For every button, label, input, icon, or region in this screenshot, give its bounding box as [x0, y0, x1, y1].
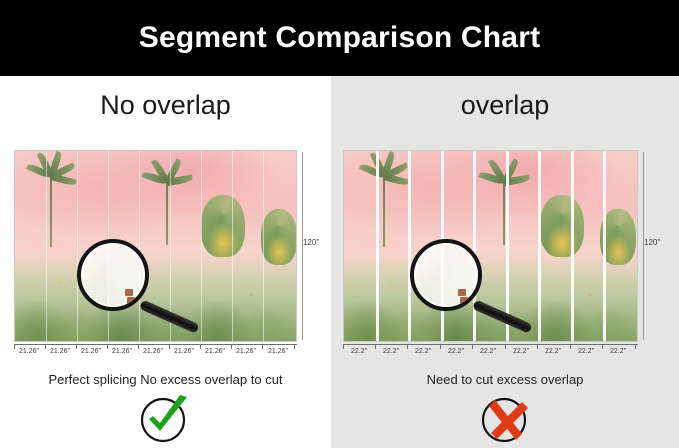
segment-label: 21.26"	[205, 348, 225, 355]
segment-label: 22.2"	[545, 348, 561, 355]
header-bar: Segment Comparison Chart	[0, 0, 679, 76]
wallpaper-image-no-overlap	[14, 150, 297, 342]
check-mark-icon	[139, 394, 193, 444]
cross-mark-icon	[478, 394, 532, 444]
wallpaper-image-overlap	[343, 150, 638, 342]
segment-ruler-overlap: 22.2" 22.2" 22.2" 22.2" 22.2" 22.2" 22.2…	[343, 344, 638, 362]
segment-label: 21.26"	[112, 348, 132, 355]
segment-label: 22.2"	[513, 348, 529, 355]
panel-heading-overlap: overlap	[331, 90, 679, 121]
height-label-overlap: 120"	[644, 238, 660, 247]
panel-no-overlap: No overlap	[0, 76, 331, 448]
caption-no-overlap: Perfect splicing No excess overlap to cu…	[0, 372, 331, 387]
height-label-no-overlap: 120"	[303, 238, 319, 247]
wallpaper-figure-no-overlap: 120" 21.26" 21.26" 21.26" 21.	[14, 150, 297, 342]
segment-label: 22.2"	[578, 348, 594, 355]
segment-label: 21.26"	[174, 348, 194, 355]
verdict-no-overlap	[0, 394, 331, 444]
panel-heading-no-overlap: No overlap	[0, 90, 331, 121]
wallpaper-figure-overlap: 120" 22.2" 22.2" 22.2" 22.2"	[343, 150, 638, 342]
segment-label: 21.26"	[50, 348, 70, 355]
segment-label: 22.2"	[383, 348, 399, 355]
segment-label: 21.26"	[19, 348, 39, 355]
caption-overlap: Need to cut excess overlap	[331, 372, 679, 387]
segment-comparison-chart: Segment Comparison Chart No overlap	[0, 0, 679, 448]
segment-label: 21.26"	[143, 348, 163, 355]
segment-label: 22.2"	[448, 348, 464, 355]
segment-label: 22.2"	[351, 348, 367, 355]
segment-label: 21.26"	[236, 348, 256, 355]
segment-label: 21.26"	[81, 348, 101, 355]
segment-label: 22.2"	[415, 348, 431, 355]
segment-label: 21.26"	[268, 348, 288, 355]
panel-overlap: overlap	[331, 76, 679, 448]
comparison-body: No overlap	[0, 76, 679, 448]
page-title: Segment Comparison Chart	[139, 23, 541, 53]
segment-label: 22.2"	[610, 348, 626, 355]
segment-ruler-no-overlap: 21.26" 21.26" 21.26" 21.26" 21.26" 21.26…	[14, 344, 297, 362]
verdict-overlap	[331, 394, 679, 444]
segment-label: 22.2"	[480, 348, 496, 355]
